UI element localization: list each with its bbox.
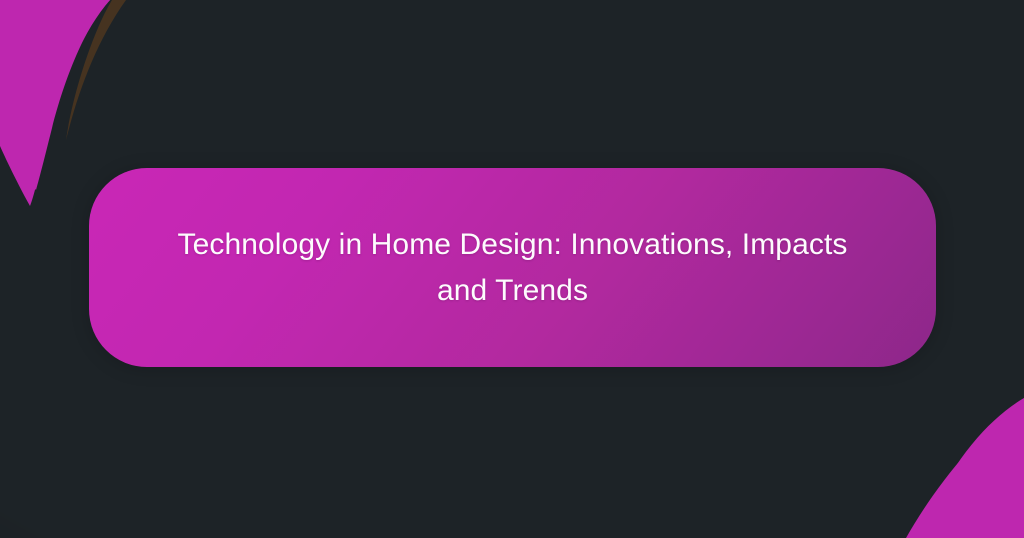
title-card: Technology in Home Design: Innovations, …: [89, 168, 936, 367]
page-title: Technology in Home Design: Innovations, …: [163, 222, 863, 314]
featured-image-canvas: Technology in Home Design: Innovations, …: [0, 0, 1024, 538]
magenta-swoosh-top-left-fill: [0, 0, 110, 206]
magenta-swoosh-bottom-right-tail: [906, 404, 1024, 538]
